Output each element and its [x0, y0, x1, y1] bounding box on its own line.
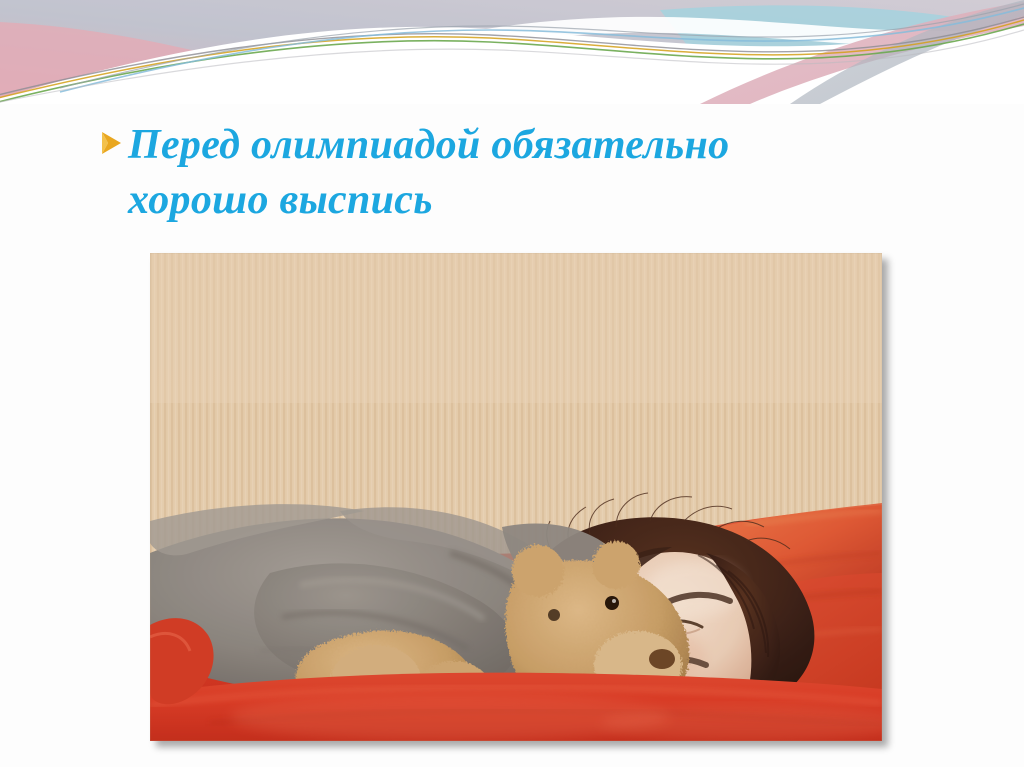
slide-text-line-1: Перед олимпиадой обязательно [128, 118, 729, 173]
slide-text-line-2: хорошо выспись [128, 173, 930, 228]
slide-text-block: Перед олимпиадой обязательно хорошо высп… [100, 118, 930, 227]
bullet-line-1: Перед олимпиадой обязательно [100, 118, 930, 173]
presentation-slide: Перед олимпиадой обязательно хорошо высп… [0, 0, 1024, 767]
arrow-bullet-icon [100, 130, 126, 156]
decorative-header-swoosh [0, 0, 1024, 104]
sleeping-girl-photo [150, 253, 882, 741]
